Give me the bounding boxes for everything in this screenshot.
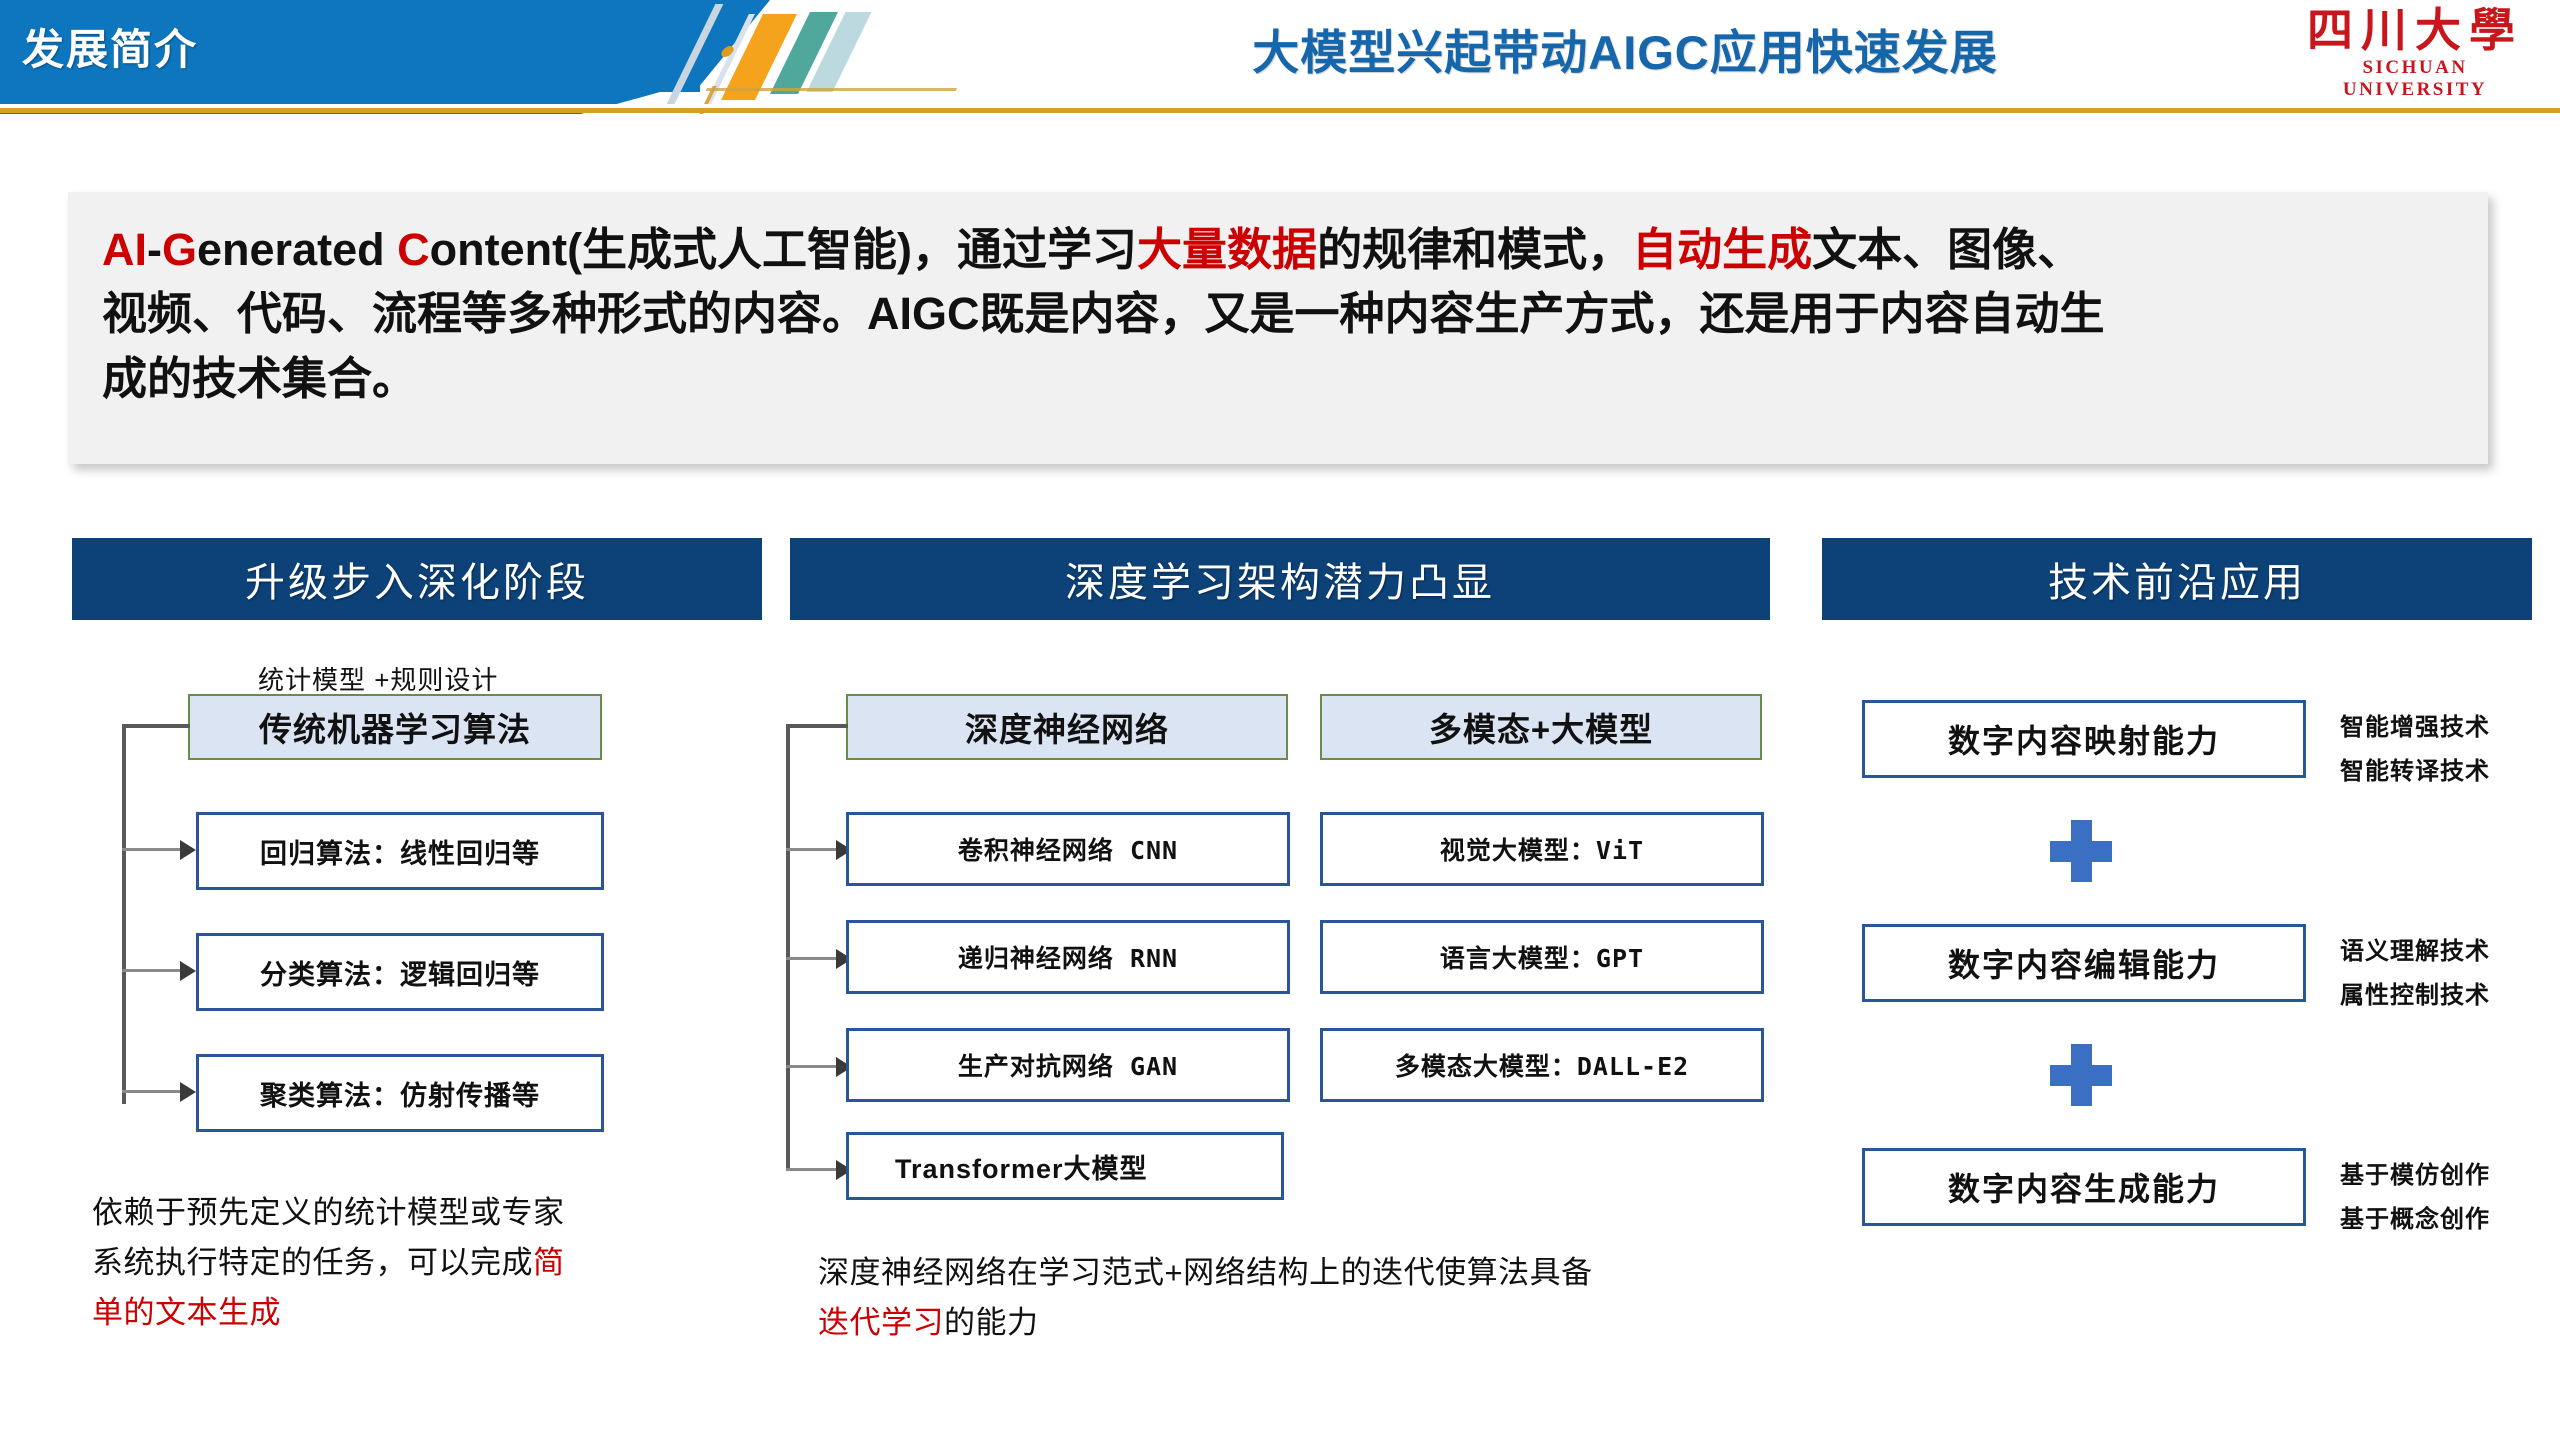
col2-branch-4 [786, 1168, 838, 1171]
col2-caption-black: 深度神经网络在学习范式+网络结构上的迭代使算法具备 [818, 1255, 1593, 1290]
col2-child-box-gpt[interactable]: 语言大模型：GPT [1320, 920, 1764, 994]
col3-note-2a: 语义理解技术 [2340, 930, 2490, 974]
intro-dash: - [147, 224, 162, 275]
intro-ontent: ontent(生成式人工智能)，通过学习 [430, 224, 1137, 275]
col1-parent-box[interactable]: 传统机器学习算法 [188, 694, 602, 760]
col3-note-2b: 属性控制技术 [2340, 974, 2490, 1018]
col1-trunk [122, 724, 126, 1104]
plus-icon-1 [2050, 820, 2112, 882]
col1-arrow-2-icon [180, 961, 196, 981]
col1-top-label: 统计模型 +规则设计 [258, 660, 498, 697]
intro-line-3: 成的技术集合。 [102, 347, 2454, 411]
col1-caption-line1: 依赖于预先定义的统计模型或专家 [92, 1195, 565, 1230]
col2-child-box-transformer[interactable]: Transformer大模型 [846, 1132, 1284, 1200]
logo-english-text: SICHUAN UNIVERSITY [2290, 57, 2540, 101]
col3-note-1b: 智能转译技术 [2340, 750, 2490, 794]
slide-header: 发展简介 大模型兴起带动AIGC应用快速发展 四川大學 SICHUAN UNIV… [0, 0, 2560, 112]
col1-branch-3 [122, 1090, 182, 1093]
col3-note-3a: 基于模仿创作 [2340, 1154, 2490, 1198]
col1-branch-1 [122, 848, 182, 851]
col2-child-box-cnn[interactable]: 卷积神经网络 CNN [846, 812, 1290, 886]
intro-highlight-autogen: 自动生成 [1632, 224, 1812, 275]
col2-caption-tail: 的能力 [944, 1305, 1039, 1340]
col1-caption: 依赖于预先定义的统计模型或专家 系统执行特定的任务，可以完成简 单的文本生成 [92, 1188, 712, 1339]
col3-notes-2: 语义理解技术 属性控制技术 [2340, 930, 2490, 1019]
col1-child-box-3[interactable]: 聚类算法：仿射传播等 [196, 1054, 604, 1132]
col2-branch-3 [786, 1065, 838, 1068]
col1-child-box-2[interactable]: 分类算法：逻辑回归等 [196, 933, 604, 1011]
col1-arrow-1-icon [180, 840, 196, 860]
col1-branch-2 [122, 969, 182, 972]
intro-tail: 文本、图像、 [1812, 224, 2082, 275]
col2-child-box-rnn[interactable]: 递归神经网络 RNN [846, 920, 1290, 994]
university-logo: 四川大學 SICHUAN UNIVERSITY [2290, 6, 2540, 98]
intro-paragraph-block: AI-Generated Content(生成式人工智能)，通过学习大量数据的规… [68, 192, 2488, 464]
intro-line-1: AI-Generated Content(生成式人工智能)，通过学习大量数据的规… [102, 218, 2454, 282]
col1-child-box-1[interactable]: 回归算法：线性回归等 [196, 812, 604, 890]
intro-enerated: enerated [197, 224, 397, 275]
column-header-frontier: 技术前沿应用 [1822, 538, 2532, 620]
intro-c: C [397, 224, 430, 275]
intro-ai: AI [102, 224, 147, 275]
col3-capability-box-1[interactable]: 数字内容映射能力 [1862, 700, 2306, 778]
intro-line-2: 视频、代码、流程等多种形式的内容。AIGC既是内容，又是一种内容生产方式，还是用… [102, 282, 2454, 346]
intro-mid: 的规律和模式， [1317, 224, 1632, 275]
col2-caption: 深度神经网络在学习范式+网络结构上的迭代使算法具备 迭代学习的能力 [818, 1248, 1838, 1348]
plus-icon-2 [2050, 1044, 2112, 1106]
col2-trunk [786, 724, 790, 1171]
intro-g: G [162, 224, 197, 275]
col1-arrow-3-icon [180, 1082, 196, 1102]
col2-parent-box-left[interactable]: 深度神经网络 [846, 694, 1288, 760]
intro-highlight-data: 大量数据 [1137, 224, 1317, 275]
col2-child-box-vit[interactable]: 视觉大模型：ViT [1320, 812, 1764, 886]
col1-caption-line2: 系统执行特定的任务，可以完成 [92, 1245, 533, 1280]
column-header-deeplearning: 深度学习架构潜力凸显 [790, 538, 1770, 620]
col3-notes-1: 智能增强技术 智能转译技术 [2340, 706, 2490, 795]
col2-caption-red: 迭代学习 [818, 1305, 944, 1340]
col1-caption-red-b: 单的文本生成 [92, 1295, 281, 1330]
col2-stub [786, 724, 848, 728]
col3-capability-box-2[interactable]: 数字内容编辑能力 [1862, 924, 2306, 1002]
column-header-upgrade: 升级步入深化阶段 [72, 538, 762, 620]
col2-branch-2 [786, 957, 838, 960]
col3-notes-3: 基于模仿创作 基于概念创作 [2340, 1154, 2490, 1243]
col3-capability-box-3[interactable]: 数字内容生成能力 [1862, 1148, 2306, 1226]
col3-note-3b: 基于概念创作 [2340, 1198, 2490, 1242]
col2-branch-1 [786, 848, 838, 851]
section-label: 发展简介 [22, 14, 442, 78]
col2-parent-box-right[interactable]: 多模态+大模型 [1320, 694, 1762, 760]
page-title: 大模型兴起带动AIGC应用快速发展 [1060, 8, 2190, 88]
header-gold-rule [0, 108, 2560, 113]
col1-caption-red-a: 简 [533, 1245, 565, 1280]
col2-child-box-gan[interactable]: 生产对抗网络 GAN [846, 1028, 1290, 1102]
col2-child-box-dalle[interactable]: 多模态大模型：DALL-E2 [1320, 1028, 1764, 1102]
logo-chinese-text: 四川大學 [2290, 6, 2540, 56]
col3-note-1a: 智能增强技术 [2340, 706, 2490, 750]
col1-stub [122, 724, 190, 728]
